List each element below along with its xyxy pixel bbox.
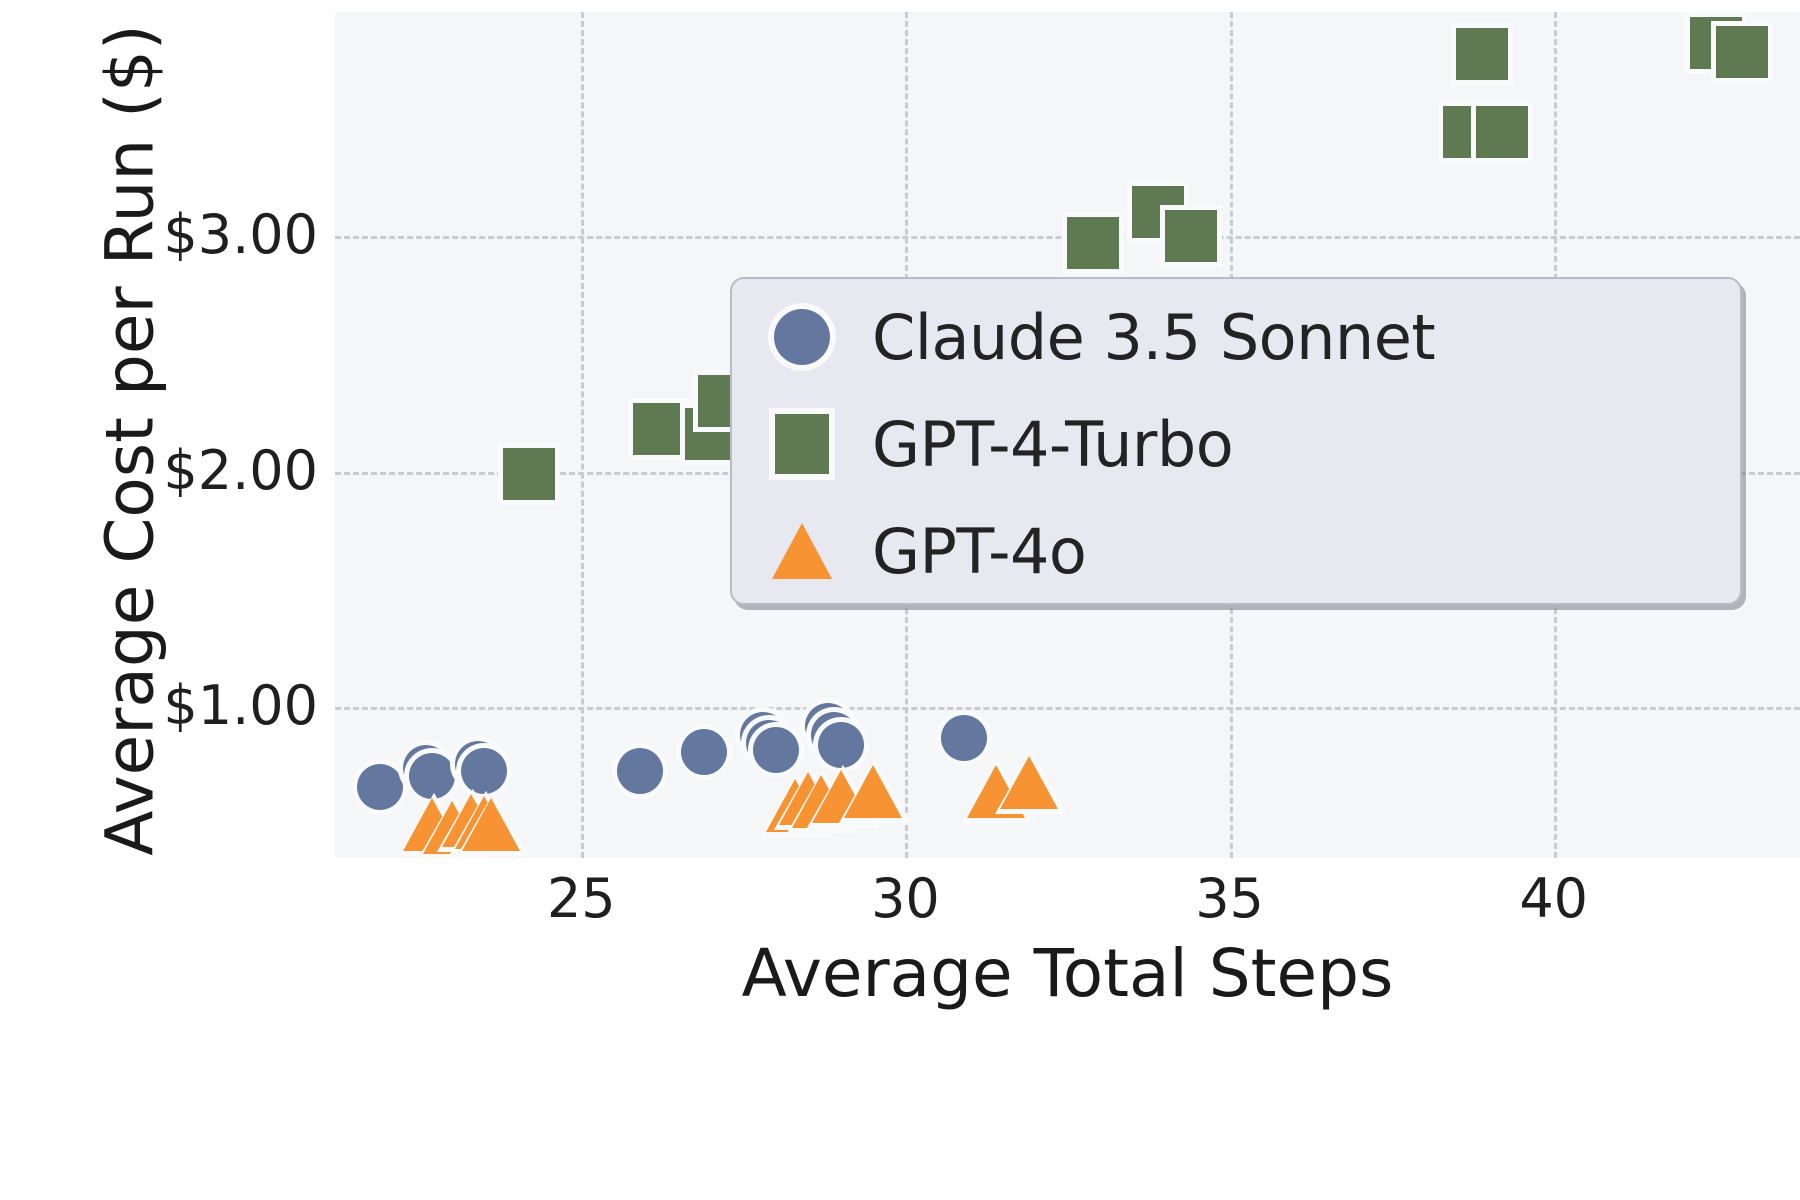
scatter-chart-figure: Average Cost per Run ($) $1.00$2.00$3.00… bbox=[0, 0, 1800, 1200]
y-tick-label: $1.00 bbox=[163, 679, 318, 733]
data-point-square bbox=[1165, 210, 1217, 262]
x-tick-label: 40 bbox=[1519, 872, 1588, 926]
data-point-square bbox=[1716, 26, 1768, 78]
legend-marker-square-icon bbox=[732, 414, 872, 474]
legend[interactable]: Claude 3.5 Sonnet GPT-4-Turbo GPT-4o bbox=[730, 277, 1742, 605]
legend-item-gpt-4o[interactable]: GPT-4o bbox=[732, 501, 1740, 601]
x-tick-label: 35 bbox=[1195, 872, 1264, 926]
legend-label-gpt4turbo: GPT-4-Turbo bbox=[872, 408, 1233, 481]
legend-marker-triangle-icon bbox=[732, 523, 872, 579]
gridline-horizontal bbox=[335, 707, 1800, 710]
y-axis-title-container: Average Cost per Run ($) bbox=[0, 0, 120, 880]
data-point-circle bbox=[681, 729, 727, 775]
data-point-circle bbox=[941, 715, 987, 761]
legend-label-claude: Claude 3.5 Sonnet bbox=[872, 301, 1435, 374]
legend-marker-circle-icon bbox=[732, 309, 872, 365]
x-tick-label: 25 bbox=[547, 872, 616, 926]
data-point-square bbox=[633, 403, 685, 455]
data-point-circle bbox=[753, 727, 799, 773]
gridline-vertical bbox=[581, 12, 584, 858]
y-tick-label: $2.00 bbox=[163, 444, 318, 498]
legend-label-gpt4o: GPT-4o bbox=[872, 515, 1086, 588]
data-point-square bbox=[1476, 106, 1528, 158]
y-axis-title: Average Cost per Run ($) bbox=[92, 10, 169, 870]
data-point-square bbox=[1067, 217, 1119, 269]
data-point-circle bbox=[357, 764, 403, 810]
legend-item-gpt-4-turbo[interactable]: GPT-4-Turbo bbox=[732, 394, 1740, 494]
data-point-square bbox=[503, 448, 555, 500]
data-point-circle bbox=[617, 748, 663, 794]
y-tick-label: $3.00 bbox=[163, 208, 318, 262]
x-axis-title: Average Total Steps bbox=[335, 935, 1800, 1012]
legend-item-claude-3-5-sonnet[interactable]: Claude 3.5 Sonnet bbox=[732, 287, 1740, 387]
data-point-circle bbox=[461, 748, 507, 794]
x-tick-label: 30 bbox=[871, 872, 940, 926]
data-point-square bbox=[1456, 28, 1508, 80]
